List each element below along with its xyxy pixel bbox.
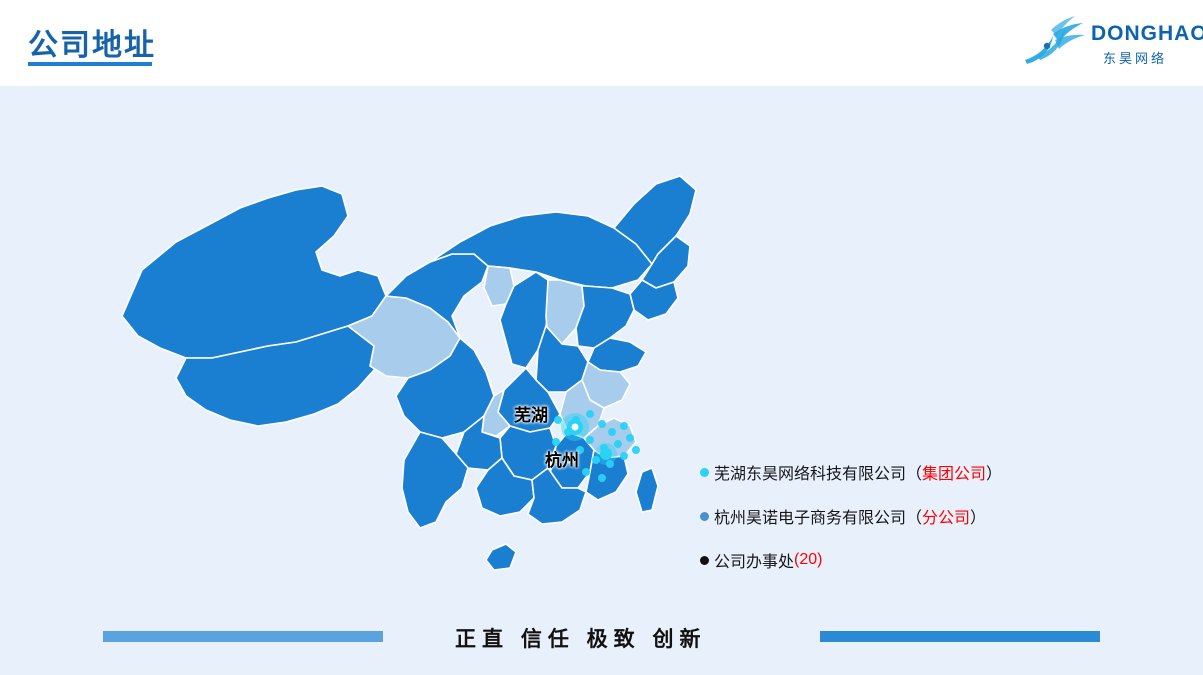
legend-item-branch-company: 杭州昊诺电子商务有限公司（ 分公司 ） [700, 504, 1180, 528]
legend-tag: (20) [794, 551, 822, 569]
legend: 芜湖东昊网络科技有限公司（ 集团公司 ） 杭州昊诺电子商务有限公司（ 分公司 ）… [700, 460, 1180, 592]
legend-tag: 集团公司 [922, 460, 986, 484]
company-logo: DONGHAO 东昊网络 [1017, 12, 1185, 74]
logo-subtitle: 东昊网络 [1103, 48, 1167, 67]
footer-slogan: 正直 信任 极致 创新 [455, 623, 707, 653]
slide: 公司地址 DONGHAO 东昊网络 [0, 0, 1203, 675]
legend-item-offices: 公司办事处 (20) [700, 548, 1180, 572]
province-taiwan [636, 468, 658, 512]
legend-tail: ） [986, 460, 1002, 484]
province-liaoning [630, 280, 678, 320]
legend-label: 公司办事处 [714, 548, 794, 572]
logo-mark-icon [1017, 16, 1089, 68]
province-hebei [576, 286, 634, 348]
legend-label: 杭州昊诺电子商务有限公司（ [714, 504, 922, 528]
slide-header: 公司地址 DONGHAO 东昊网络 [0, 0, 1203, 86]
legend-item-group-company: 芜湖东昊网络科技有限公司（ 集团公司 ） [700, 460, 1180, 484]
marker-wuhu [561, 413, 589, 441]
marker-hangzhou [595, 443, 617, 465]
legend-dot-icon [700, 468, 709, 477]
legend-tag: 分公司 [922, 504, 970, 528]
province-hainan [486, 544, 516, 570]
city-label-hangzhou: 杭州 [545, 446, 579, 471]
china-map: 芜湖 杭州 [90, 120, 730, 610]
logo-name: DONGHAO [1091, 22, 1203, 46]
page-title: 公司地址 [28, 20, 156, 64]
title-underline [28, 62, 152, 66]
city-label-wuhu: 芜湖 [514, 401, 548, 426]
legend-dot-icon [700, 556, 709, 565]
legend-dot-icon [700, 512, 709, 521]
legend-label: 芜湖东昊网络科技有限公司（ [714, 460, 922, 484]
legend-tail: ） [970, 504, 986, 528]
footer-bar-right [820, 631, 1100, 642]
footer-bar-left [103, 631, 383, 642]
china-map-svg [90, 120, 730, 610]
